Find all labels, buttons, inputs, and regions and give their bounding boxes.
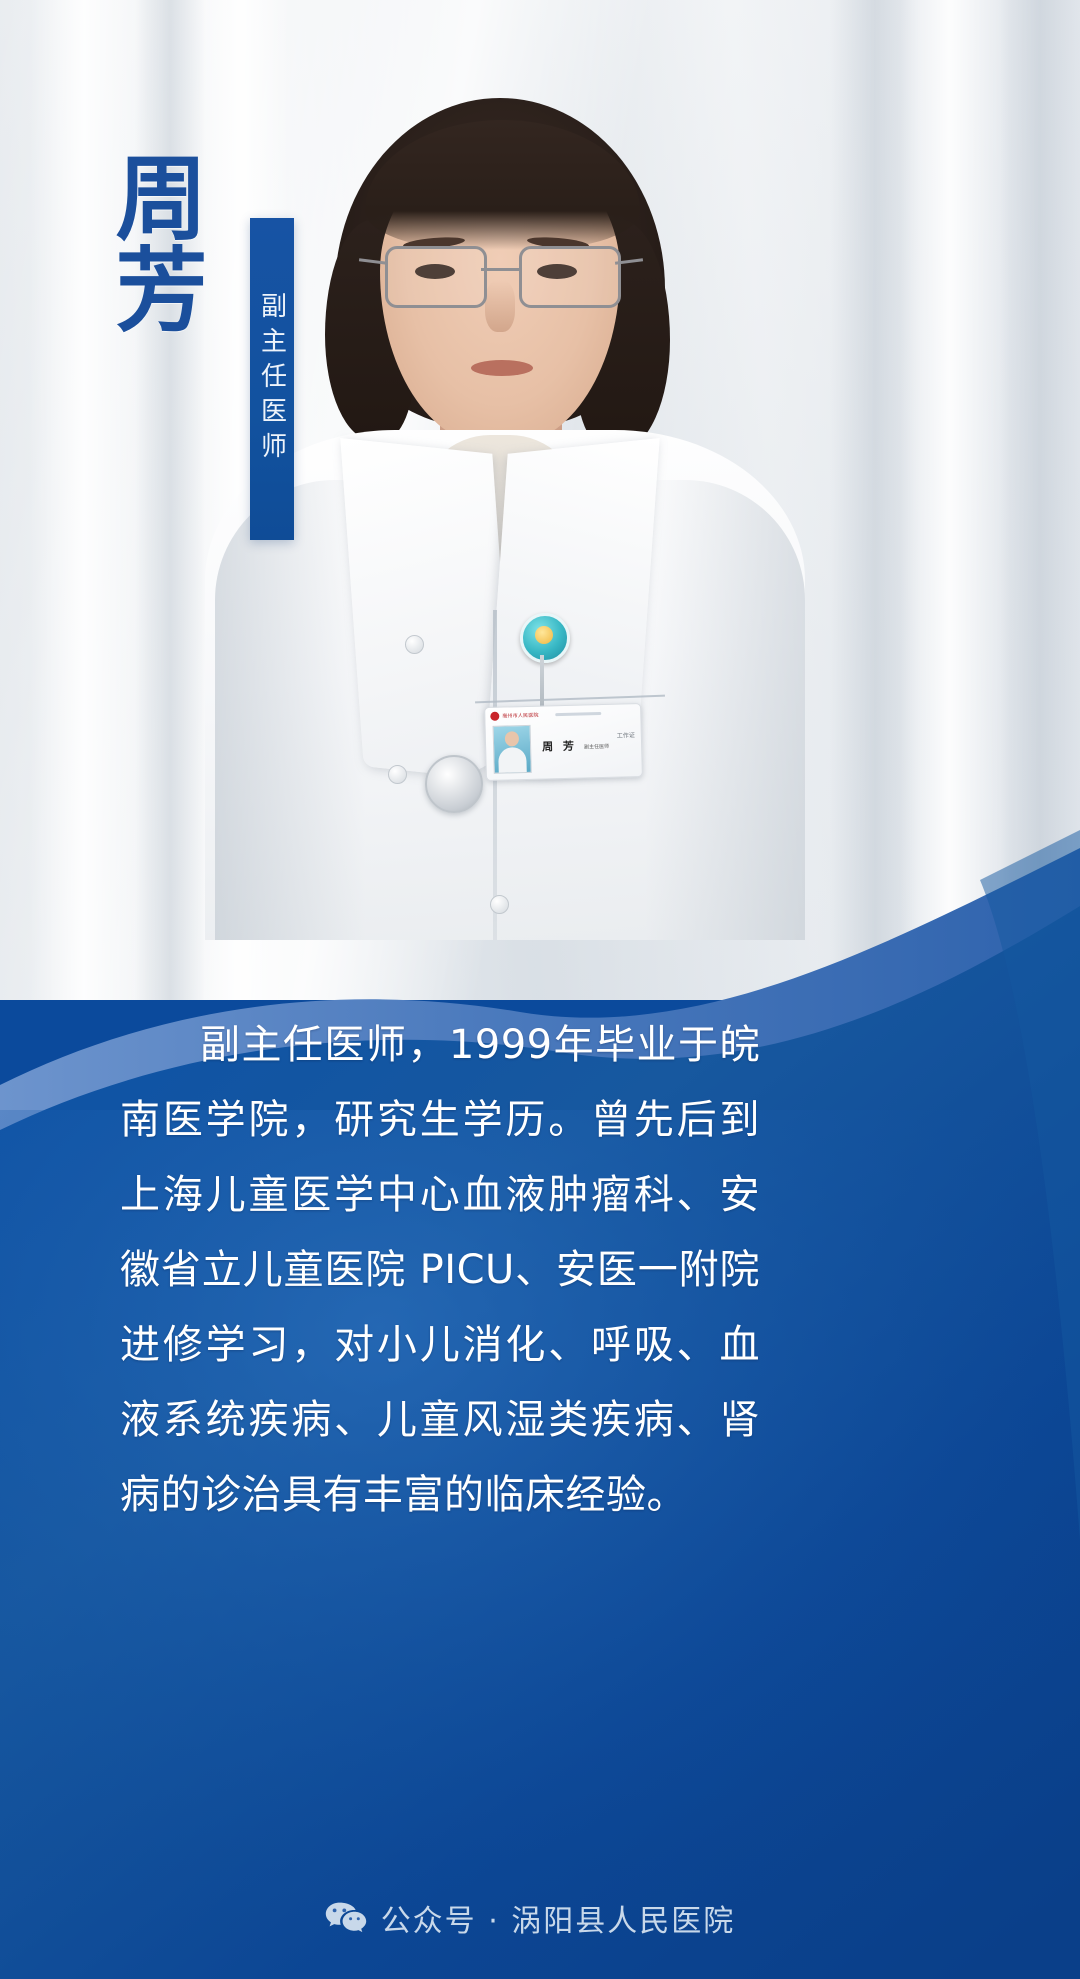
doctor-profile-poster: 亳州市人民医院 工作证 周 芳 副主任医师 [0, 0, 1080, 1979]
doctor-title-text: 副主任医师 [254, 292, 291, 467]
wechat-icon [325, 1901, 367, 1935]
doctor-bio-text: 副主任医师，1999年毕业于皖南医学院，研究生学历。曾先后到上海儿童医学中心血液… [120, 1008, 760, 1533]
doctor-name: 周芳 [90, 150, 200, 334]
eyeglasses [381, 246, 621, 306]
footer-bar: 公众号 · 涡阳县人民医院 [0, 1888, 1080, 1948]
badge-reel [520, 613, 570, 663]
footer-account-text: 公众号 · 涡阳县人民医院 [381, 1896, 736, 1940]
coat-button [405, 635, 424, 654]
lens-right [519, 246, 621, 308]
lens-left [385, 246, 487, 308]
mouth [471, 360, 533, 376]
glasses-bridge [481, 268, 521, 271]
doctor-name-block: 周芳 副主任医师 [80, 150, 310, 410]
doctor-title-badge: 副主任医师 [250, 218, 294, 540]
